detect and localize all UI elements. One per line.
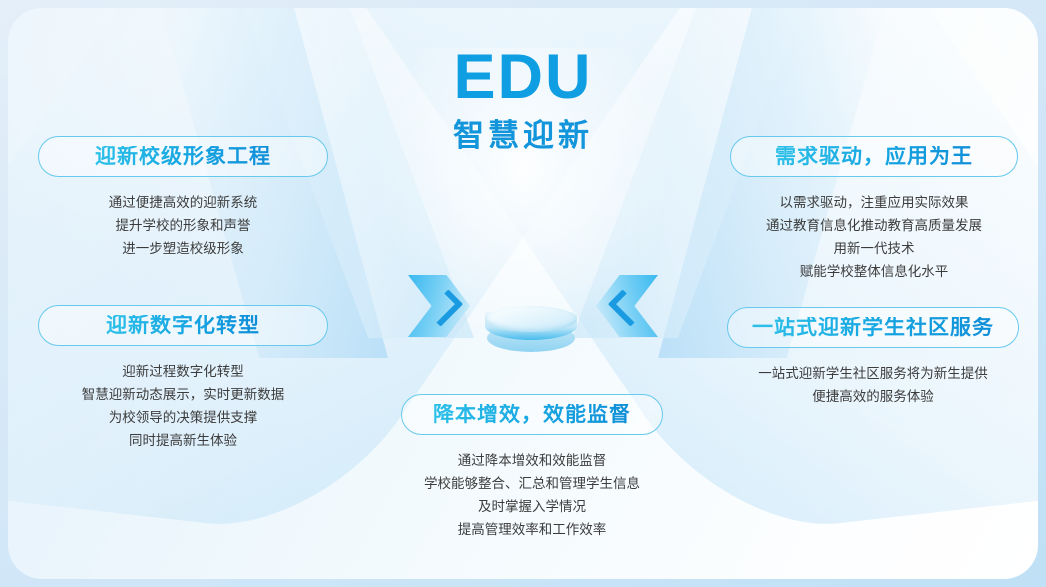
feature-desc-right-2: 一站式迎新学生社区服务将为新生提供 便捷高效的服务体验	[723, 362, 1023, 408]
feature-title-left-2: 迎新数字化转型	[106, 315, 260, 336]
podium-graphic	[485, 306, 577, 354]
feature-pill-bottom[interactable]: 降本增效，效能监督	[401, 394, 663, 435]
feature-title-left-1: 迎新校级形象工程	[95, 146, 271, 167]
desc-line: 赋能学校整体信息化水平	[724, 260, 1024, 283]
page-title: EDU	[8, 46, 1038, 109]
feature-block-left-1: 迎新校级形象工程 通过便捷高效的迎新系统 提升学校的形象和声誉 进一步塑造校级形…	[38, 136, 328, 260]
desc-line: 以需求驱动，注重应用实际效果	[724, 191, 1024, 214]
feature-block-right-2: 一站式迎新学生社区服务 一站式迎新学生社区服务将为新生提供 便捷高效的服务体验	[727, 307, 1019, 408]
feature-desc-right-1: 以需求驱动，注重应用实际效果 通过教育信息化推动教育高质量发展 用新一代技术 赋…	[724, 191, 1024, 283]
desc-line: 便捷高效的服务体验	[723, 385, 1023, 408]
desc-line: 学校能够整合、汇总和管理学生信息	[401, 472, 663, 495]
desc-line: 通过降本增效和效能监督	[401, 449, 663, 472]
feature-pill-left-2[interactable]: 迎新数字化转型	[38, 305, 328, 346]
feature-desc-left-1: 通过便捷高效的迎新系统 提升学校的形象和声誉 进一步塑造校级形象	[38, 191, 328, 260]
feature-block-bottom: 降本增效，效能监督 通过降本增效和效能监督 学校能够整合、汇总和管理学生信息 及…	[401, 394, 663, 541]
feature-desc-left-2: 迎新过程数字化转型 智慧迎新动态展示，实时更新数据 为校领导的决策提供支撑 同时…	[33, 360, 333, 452]
feature-pill-left-1[interactable]: 迎新校级形象工程	[38, 136, 328, 177]
desc-line: 提升学校的形象和声誉	[38, 214, 328, 237]
feature-title-bottom: 降本增效，效能监督	[433, 404, 631, 425]
feature-title-right-1: 需求驱动，应用为王	[775, 146, 973, 167]
desc-line: 提高管理效率和工作效率	[401, 518, 663, 541]
feature-desc-bottom: 通过降本增效和效能监督 学校能够整合、汇总和管理学生信息 及时掌握入学情况 提高…	[401, 449, 663, 541]
desc-line: 进一步塑造校级形象	[38, 237, 328, 260]
feature-block-left-2: 迎新数字化转型 迎新过程数字化转型 智慧迎新动态展示，实时更新数据 为校领导的决…	[38, 305, 328, 452]
desc-line: 通过教育信息化推动教育高质量发展	[724, 214, 1024, 237]
infographic-frame: EDU 智慧迎新 迎新校级形象工程 通过便捷高效的迎新系统 提升学校的形象和声誉	[0, 0, 1046, 587]
desc-line: 一站式迎新学生社区服务将为新生提供	[723, 362, 1023, 385]
desc-line: 通过便捷高效的迎新系统	[38, 191, 328, 214]
desc-line: 用新一代技术	[724, 237, 1024, 260]
desc-line: 智慧迎新动态展示，实时更新数据	[33, 383, 333, 406]
desc-line: 及时掌握入学情况	[401, 495, 663, 518]
chevron-left-icon	[596, 275, 658, 337]
desc-line: 为校领导的决策提供支撑	[33, 406, 333, 429]
infographic-card: EDU 智慧迎新 迎新校级形象工程 通过便捷高效的迎新系统 提升学校的形象和声誉	[8, 8, 1038, 579]
feature-title-right-2: 一站式迎新学生社区服务	[752, 317, 994, 338]
feature-block-right-1: 需求驱动，应用为王 以需求驱动，注重应用实际效果 通过教育信息化推动教育高质量发…	[730, 136, 1018, 283]
desc-line: 同时提高新生体验	[33, 429, 333, 452]
chevron-right-icon	[408, 275, 470, 337]
podium-top-surface	[485, 306, 577, 332]
feature-pill-right-2[interactable]: 一站式迎新学生社区服务	[727, 307, 1019, 348]
desc-line: 迎新过程数字化转型	[33, 360, 333, 383]
feature-pill-right-1[interactable]: 需求驱动，应用为王	[730, 136, 1018, 177]
